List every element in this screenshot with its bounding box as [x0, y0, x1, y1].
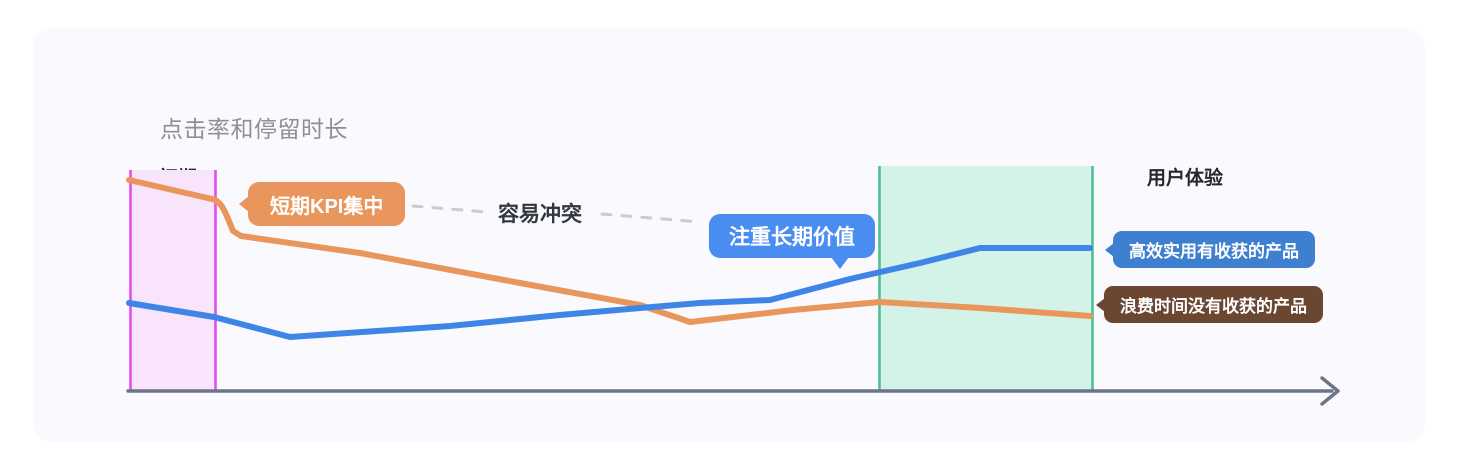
callout-bad-product[interactable]: 浪费时间没有收获的产品: [1104, 286, 1323, 323]
band-mid-long-term: [879, 166, 1093, 391]
band-early: [130, 170, 216, 391]
x-axis: [128, 378, 1338, 404]
callout-short-kpi[interactable]: 短期KPI集中: [248, 182, 405, 226]
callout-good-product[interactable]: 高效实用有收获的产品: [1113, 231, 1315, 268]
annotation-conflict: 容易冲突: [498, 198, 582, 228]
callout-long-term-value[interactable]: 注重长期价值: [709, 214, 875, 258]
